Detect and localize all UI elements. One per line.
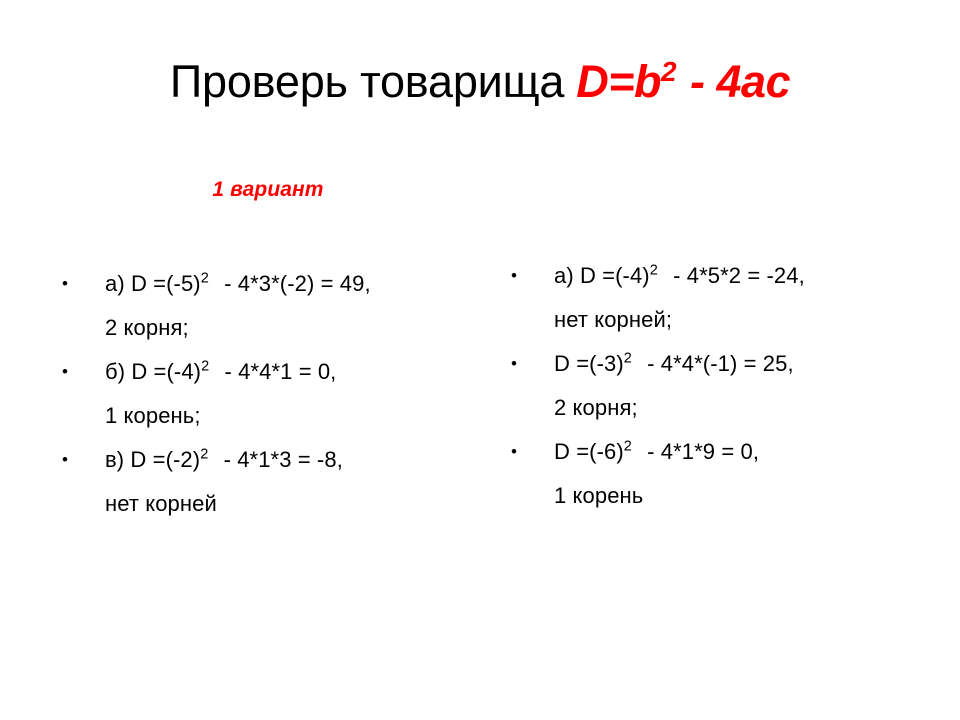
answer-exponent: 2 xyxy=(200,447,208,463)
answer-line-secondary: нет корней; xyxy=(554,298,934,342)
answer-label: а) D =(-5) xyxy=(105,271,201,296)
bullet-icon: • xyxy=(511,254,525,298)
formula-tail: - 4ac xyxy=(678,56,790,107)
variant-2-answer-list: • а) D =(-4)2 - 4*5*2 = -24, нет корней;… xyxy=(504,254,934,518)
answer-line-secondary: 2 корня; xyxy=(554,386,934,430)
variant-1-heading: 1 вариант xyxy=(152,178,384,202)
title-discriminant-formula: D=b2 - 4ac xyxy=(576,56,790,107)
answer-expression: - 4*3*(-2) = 49, xyxy=(218,271,371,296)
answer-exponent: 2 xyxy=(624,351,632,367)
answer-exponent: 2 xyxy=(624,439,632,455)
answer-label: б) D =(-4) xyxy=(105,359,201,384)
answer-line-secondary: 1 корень xyxy=(554,474,934,518)
formula-exponent: 2 xyxy=(661,56,676,87)
answer-line-primary: а) D =(-4)2 - 4*5*2 = -24, xyxy=(554,254,934,298)
answer-expression: - 4*4*(-1) = 25, xyxy=(641,351,794,376)
answer-line-secondary: нет корней xyxy=(105,482,485,526)
variant-1-answer-list: • а) D =(-5)2 - 4*3*(-2) = 49, 2 корня; … xyxy=(55,262,485,526)
bullet-icon: • xyxy=(62,438,76,482)
bullet-icon: • xyxy=(62,350,76,394)
answer-line-secondary: 2 корня; xyxy=(105,306,485,350)
list-item: • D =(-6)2 - 4*1*9 = 0, 1 корень xyxy=(504,430,934,518)
list-item: • а) D =(-4)2 - 4*5*2 = -24, нет корней; xyxy=(504,254,934,342)
bullet-icon: • xyxy=(511,342,525,386)
bullet-icon: • xyxy=(62,262,76,306)
answer-line-secondary: 1 корень; xyxy=(105,394,485,438)
answer-expression: - 4*1*3 = -8, xyxy=(217,447,343,472)
answer-expression: - 4*4*1 = 0, xyxy=(218,359,336,384)
slide-canvas: Проверь товарищаD=b2 - 4ac 1 вариант • а… xyxy=(0,0,960,720)
answer-exponent: 2 xyxy=(650,263,658,279)
answer-exponent: 2 xyxy=(201,359,209,375)
answer-line-primary: в) D =(-2)2 - 4*1*3 = -8, xyxy=(105,438,485,482)
answer-label: в) D =(-2) xyxy=(105,447,200,472)
list-item: • в) D =(-2)2 - 4*1*3 = -8, нет корней xyxy=(55,438,485,526)
answer-line-primary: D =(-6)2 - 4*1*9 = 0, xyxy=(554,430,934,474)
formula-lead: D=b xyxy=(576,56,661,107)
answer-line-primary: D =(-3)2 - 4*4*(-1) = 25, xyxy=(554,342,934,386)
list-item: • а) D =(-5)2 - 4*3*(-2) = 49, 2 корня; xyxy=(55,262,485,350)
list-item: • D =(-3)2 - 4*4*(-1) = 25, 2 корня; xyxy=(504,342,934,430)
answer-label: D =(-3) xyxy=(554,351,624,376)
list-item: • б) D =(-4)2 - 4*4*1 = 0, 1 корень; xyxy=(55,350,485,438)
answer-line-primary: а) D =(-5)2 - 4*3*(-2) = 49, xyxy=(105,262,485,306)
answer-label: D =(-6) xyxy=(554,439,624,464)
answer-line-primary: б) D =(-4)2 - 4*4*1 = 0, xyxy=(105,350,485,394)
title-plain-text: Проверь товарища xyxy=(170,56,564,107)
bullet-icon: • xyxy=(511,430,525,474)
answer-exponent: 2 xyxy=(201,271,209,287)
answer-expression: - 4*5*2 = -24, xyxy=(667,263,805,288)
answer-label: а) D =(-4) xyxy=(554,263,650,288)
answer-expression: - 4*1*9 = 0, xyxy=(641,439,759,464)
page-title: Проверь товарищаD=b2 - 4ac xyxy=(0,58,960,105)
